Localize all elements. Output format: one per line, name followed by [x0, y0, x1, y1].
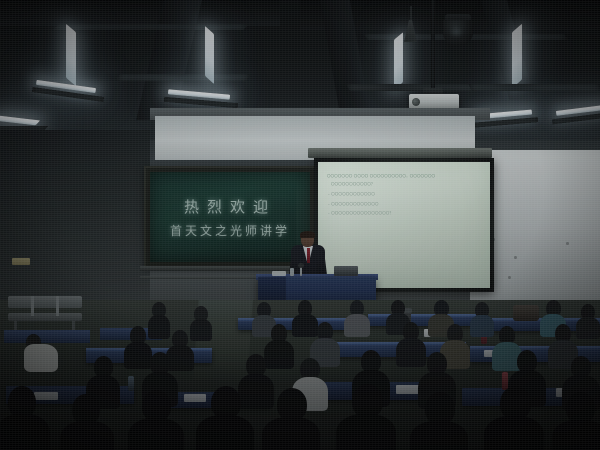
wall-outlet[interactable] [12, 258, 30, 265]
desk-bottle [290, 268, 294, 276]
lecturer-tie [307, 248, 311, 263]
student [470, 302, 494, 336]
desk-papers [272, 271, 286, 276]
slide-heading-line-2: 〇〇〇〇〇〇〇〇〇〇〇？ [327, 182, 482, 187]
projector-mount-pole [431, 0, 435, 96]
student [576, 304, 600, 338]
student [0, 386, 50, 450]
slide-bullet: 〇〇〇〇〇〇〇〇〇〇〇〇〇 [327, 202, 482, 207]
pendant-shade [404, 20, 417, 42]
left-wall [0, 130, 150, 305]
metal-waiting-bench[interactable] [8, 296, 82, 330]
student [336, 384, 396, 450]
chalkboard-line-2: 首天文之光师讲学 [170, 222, 290, 239]
lecture-hall-photo: 热烈欢迎 首天文之光师讲学 〇〇〇〇〇〇〇 〇〇〇〇 〇〇〇〇〇〇〇〇〇〇，〇〇… [0, 0, 600, 450]
bench-armrest [31, 296, 34, 316]
slide-heading-line-1: 〇〇〇〇〇〇〇 〇〇〇〇 〇〇〇〇〇〇〇〇〇〇，〇〇〇〇〇〇〇 [327, 174, 482, 179]
bench-backrest [8, 296, 82, 308]
chalkboard-surface: 热烈欢迎 首天文之光师讲学 [150, 172, 310, 262]
student [60, 394, 114, 450]
lecturer-hair [300, 231, 315, 238]
slide-bullet: 〇〇〇〇〇〇〇〇〇〇〇〇〇〇〇〇？ [327, 211, 482, 216]
student [196, 386, 254, 450]
student [344, 300, 370, 336]
slide-bullet: 〇〇〇〇〇〇〇〇〇〇〇〇 [327, 192, 482, 197]
projector-lens [412, 98, 420, 106]
microphone-head [298, 263, 304, 268]
student [262, 388, 320, 450]
backpack [513, 305, 539, 321]
camera-highlight [452, 29, 461, 35]
bench-seat [8, 313, 82, 321]
ceiling-projector [409, 94, 459, 109]
chalkboard-line-1: 热烈欢迎 [184, 196, 276, 217]
student [552, 392, 600, 450]
desk-edge [470, 346, 600, 349]
ceiling-slab [0, 0, 280, 26]
student [24, 332, 58, 372]
water-bottle [128, 376, 134, 391]
student [128, 390, 184, 450]
slide-content: 〇〇〇〇〇〇〇 〇〇〇〇 〇〇〇〇〇〇〇〇〇〇，〇〇〇〇〇〇〇 〇〇〇〇〇〇〇〇… [327, 174, 482, 221]
bench-armrest [56, 296, 59, 316]
projection-screen-housing [308, 148, 492, 158]
pendant-fixture [404, 20, 417, 42]
student [410, 392, 468, 450]
student [484, 386, 544, 450]
laptop[interactable] [334, 266, 358, 276]
pendant-cord [410, 6, 412, 22]
dome-security-camera [443, 14, 473, 46]
